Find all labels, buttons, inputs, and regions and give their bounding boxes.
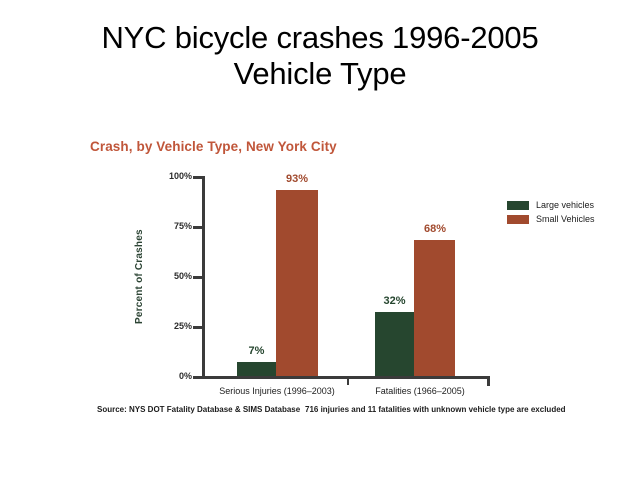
- x-axis-group-separator-tick: [347, 376, 349, 385]
- x-axis-category-serious-injuries: Serious Injuries (1996–2003): [207, 386, 347, 396]
- page-title-line-1: NYC bicycle crashes 1996-2005: [0, 20, 640, 56]
- bar-small-vehicles-serious-injuries[interactable]: [276, 190, 318, 376]
- chart-figure: Crash, by Vehicle Type, New York City 10…: [0, 130, 640, 430]
- chart-exclusion-note: 716 injuries and 11 fatalities with unkn…: [305, 405, 566, 414]
- bar-value-small-vehicles-fatalities: 68%: [405, 223, 465, 235]
- legend-swatch-small-vehicles: [507, 215, 529, 224]
- y-axis-title-text: Percent of Crashes: [134, 310, 145, 324]
- bar-value-small-vehicles-serious-injuries: 93%: [267, 173, 327, 185]
- y-axis-label-75: 75%: [154, 221, 192, 231]
- y-axis-tick-100: [193, 176, 202, 179]
- bar-small-vehicles-fatalities[interactable]: [414, 240, 455, 376]
- x-axis-category-fatalities: Fatalities (1966–2005): [350, 386, 490, 396]
- y-axis-tick-75: [193, 226, 202, 229]
- y-axis-line: [202, 176, 205, 377]
- y-axis-tick-25: [193, 326, 202, 329]
- page-title-line-2: Vehicle Type: [0, 56, 640, 92]
- y-axis-label-50: 50%: [154, 271, 192, 281]
- y-axis-label-0: 0%: [154, 371, 192, 381]
- chart-legend: Large vehicles Small Vehicles: [507, 200, 595, 228]
- y-axis-tick-0: [193, 376, 202, 379]
- legend-item-small-vehicles[interactable]: Small Vehicles: [507, 214, 595, 224]
- bar-large-vehicles-serious-injuries[interactable]: [237, 362, 276, 376]
- chart-source-note: Source: NYS DOT Fatality Database & SIMS…: [97, 405, 300, 414]
- y-axis-label-100: 100%: [154, 171, 192, 181]
- legend-label-small-vehicles: Small Vehicles: [536, 214, 595, 224]
- x-axis-line: [202, 376, 490, 379]
- bar-large-vehicles-fatalities[interactable]: [375, 312, 414, 376]
- legend-label-large-vehicles: Large vehicles: [536, 200, 594, 210]
- legend-item-large-vehicles[interactable]: Large vehicles: [507, 200, 595, 210]
- chart-title: Crash, by Vehicle Type, New York City: [90, 139, 337, 154]
- page-title: NYC bicycle crashes 1996-2005 Vehicle Ty…: [0, 20, 640, 92]
- chart-plot-area: 100% 75% 50% 25% 0% Percent of Crashes 7…: [202, 176, 490, 376]
- y-axis-tick-50: [193, 276, 202, 279]
- x-axis-right-cap: [487, 376, 490, 386]
- y-axis-title: Percent of Crashes: [134, 218, 145, 232]
- y-axis-label-25: 25%: [154, 321, 192, 331]
- legend-swatch-large-vehicles: [507, 201, 529, 210]
